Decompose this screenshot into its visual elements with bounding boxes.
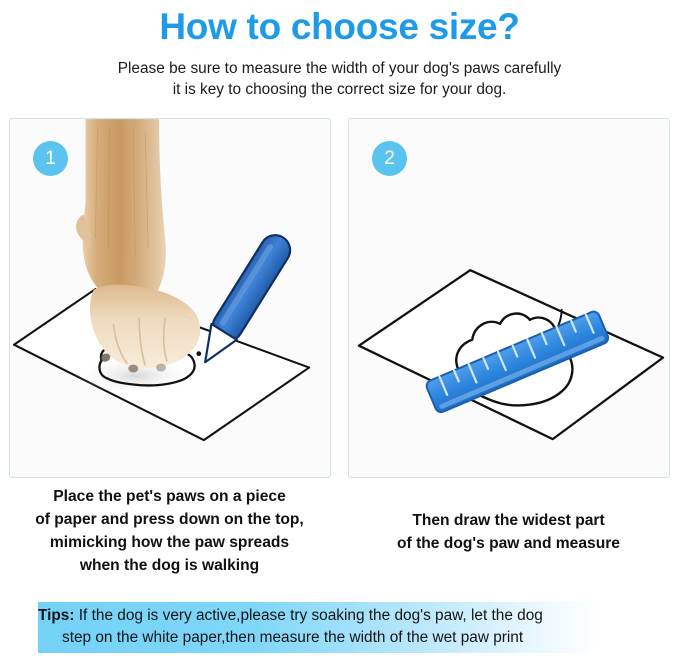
pen-nib bbox=[196, 351, 201, 356]
caption-step-1: Place the pet's paws on a piece of paper… bbox=[0, 485, 339, 585]
caption-1-line-4: when the dog is walking bbox=[0, 554, 339, 577]
step-badge-1: 1 bbox=[33, 141, 68, 176]
tips-label: Tips: bbox=[38, 607, 75, 624]
subtitle-line-2: it is key to choosing the correct size f… bbox=[0, 79, 679, 100]
step-badge-2: 2 bbox=[372, 141, 407, 176]
tips-line-1: Tips: If the dog is very active,please t… bbox=[38, 605, 598, 627]
step-panel-1: 1 bbox=[9, 118, 331, 478]
tips-line-1-text: If the dog is very active,please try soa… bbox=[75, 607, 543, 624]
page-subtitle: Please be sure to measure the width of y… bbox=[0, 49, 679, 100]
caption-step-2: Then draw the widest part of the dog's p… bbox=[339, 485, 678, 585]
steps-panel-group: 1 bbox=[9, 118, 670, 478]
tips-line-2: step on the white paper,then measure the… bbox=[38, 627, 598, 649]
caption-1-line-1: Place the pet's paws on a piece bbox=[0, 485, 339, 508]
caption-group: Place the pet's paws on a piece of paper… bbox=[0, 485, 679, 585]
caption-1-line-2: of paper and press down on the top, bbox=[0, 508, 339, 531]
caption-2-line-2: of the dog's paw and measure bbox=[339, 532, 678, 555]
step-panel-2: 2 bbox=[348, 118, 670, 478]
caption-2-line-1: Then draw the widest part bbox=[339, 509, 678, 532]
tips-banner: Tips: If the dog is very active,please t… bbox=[38, 602, 598, 653]
header: How to choose size? Please be sure to me… bbox=[0, 0, 679, 100]
caption-1-line-3: mimicking how the paw spreads bbox=[0, 531, 339, 554]
page-title: How to choose size? bbox=[0, 2, 679, 49]
subtitle-line-1: Please be sure to measure the width of y… bbox=[0, 58, 679, 79]
dog-leg bbox=[83, 119, 166, 306]
